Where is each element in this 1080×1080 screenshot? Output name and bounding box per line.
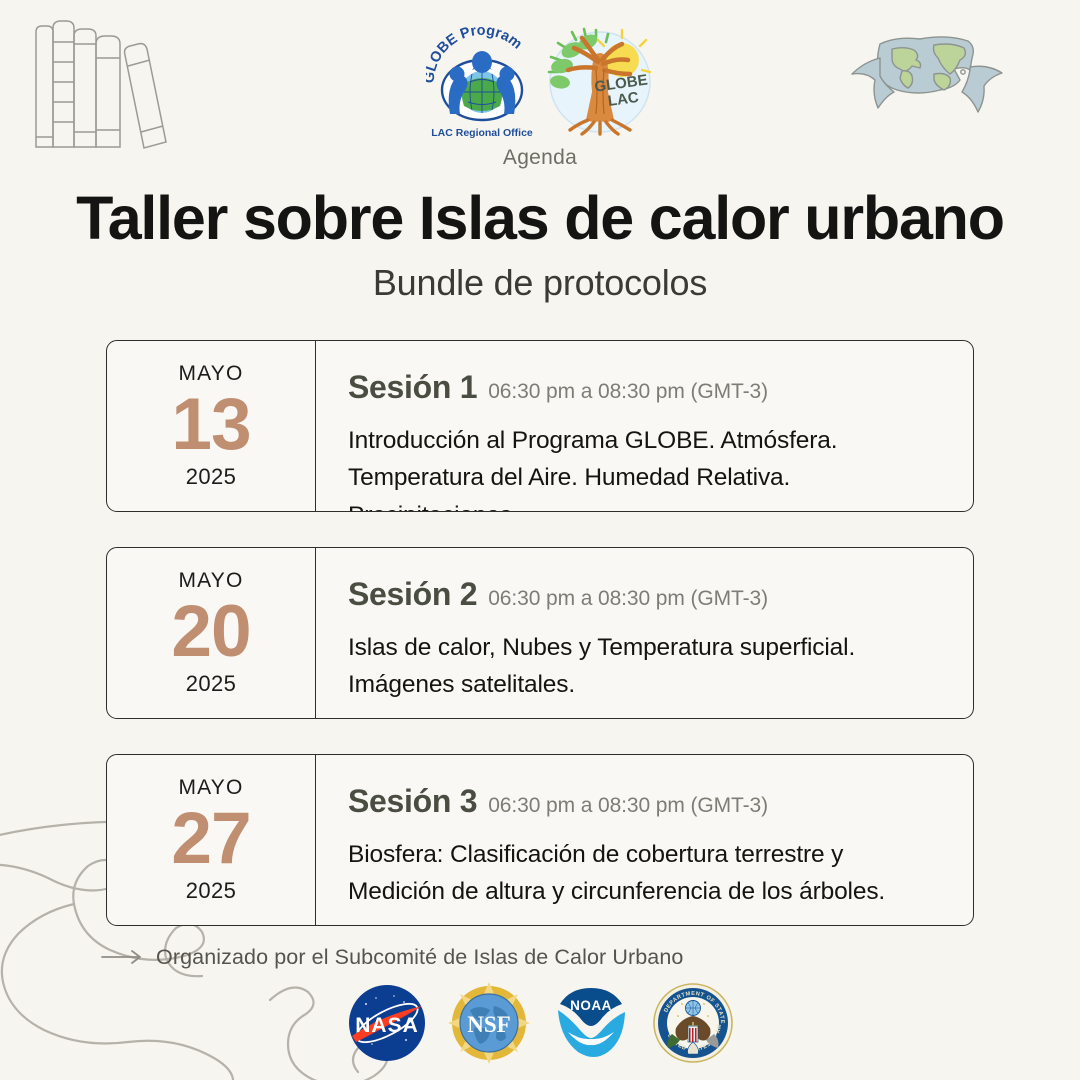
session-card: MAYO 27 2025 Sesión 3 06:30 pm a 08:30 p…: [106, 754, 974, 926]
agenda-label: Agenda: [0, 146, 1080, 170]
svg-text:NOAA: NOAA: [570, 998, 612, 1013]
session-description-line: Temperatura del Aire. Humedad Relativa. …: [348, 459, 951, 512]
session-date-block: MAYO 20 2025: [107, 548, 316, 718]
date-day: 27: [171, 802, 250, 876]
session-list: MAYO 13 2025 Sesión 1 06:30 pm a 08:30 p…: [106, 340, 974, 926]
svg-text:NSF: NSF: [467, 1012, 510, 1037]
page-title: Taller sobre Islas de calor urbano: [0, 186, 1080, 250]
page-subtitle: Bundle de protocolos: [0, 262, 1080, 304]
svg-text:LAC Regional Office: LAC Regional Office: [431, 127, 533, 139]
organizer-text: Organizado por el Subcomité de Islas de …: [156, 945, 683, 970]
globe-lac-tree-logo: GLOBE LAC: [546, 26, 654, 138]
date-month: MAYO: [178, 569, 243, 593]
date-year: 2025: [186, 464, 237, 490]
session-heading-row: Sesión 3 06:30 pm a 08:30 pm (GMT-3): [348, 783, 951, 820]
session-description-line: Introducción al Programa GLOBE. Atmósfer…: [348, 422, 951, 459]
session-name: Sesión 2: [348, 576, 477, 613]
date-month: MAYO: [178, 362, 243, 386]
session-description-line: Biosfera: Clasificación de cobertura ter…: [348, 836, 951, 873]
session-content: Sesión 2 06:30 pm a 08:30 pm (GMT-3) Isl…: [316, 548, 973, 718]
session-description-line: Medición de altura y circunferencia de l…: [348, 873, 951, 910]
sponsor-logo-row: NASA NSF: [0, 982, 1080, 1064]
session-card: MAYO 20 2025 Sesión 2 06:30 pm a 08:30 p…: [106, 547, 974, 719]
page-footer: Organizado por el Subcomité de Islas de …: [0, 940, 1080, 1080]
globe-program-lac-regional-office-logo: GLOBE Program LAC Regional Office: [426, 22, 538, 140]
organizer-row: Organizado por el Subcomité de Islas de …: [0, 940, 1080, 974]
arrow-right-icon: [100, 949, 146, 965]
session-name: Sesión 3: [348, 783, 477, 820]
us-department-of-state-seal: DEPARTMENT OF STATE UNITED STATES OF AME…: [652, 982, 734, 1064]
session-heading-row: Sesión 2 06:30 pm a 08:30 pm (GMT-3): [348, 576, 951, 613]
session-time: 06:30 pm a 08:30 pm (GMT-3): [488, 794, 768, 818]
date-year: 2025: [186, 878, 237, 904]
session-description-line: Islas de calor, Nubes y Temperatura supe…: [348, 629, 951, 666]
date-month: MAYO: [178, 776, 243, 800]
session-card: MAYO 13 2025 Sesión 1 06:30 pm a 08:30 p…: [106, 340, 974, 512]
nsf-logo: NSF: [448, 982, 530, 1064]
session-description-line: Imágenes satelitales.: [348, 666, 951, 703]
date-year: 2025: [186, 671, 237, 697]
date-day: 13: [171, 388, 250, 462]
session-date-block: MAYO 27 2025: [107, 755, 316, 925]
session-time: 06:30 pm a 08:30 pm (GMT-3): [488, 380, 768, 404]
session-date-block: MAYO 13 2025: [107, 341, 316, 511]
session-heading-row: Sesión 1 06:30 pm a 08:30 pm (GMT-3): [348, 369, 951, 406]
session-content: Sesión 3 06:30 pm a 08:30 pm (GMT-3) Bio…: [316, 755, 973, 925]
svg-text:NASA: NASA: [355, 1014, 419, 1037]
noaa-logo: NOAA: [550, 982, 632, 1064]
logo-row: GLOBE Program LAC Regional Office: [0, 22, 1080, 142]
page-header: GLOBE Program LAC Regional Office: [0, 0, 1080, 304]
session-time: 06:30 pm a 08:30 pm (GMT-3): [488, 587, 768, 611]
session-name: Sesión 1: [348, 369, 477, 406]
nasa-logo: NASA: [346, 982, 428, 1064]
date-day: 20: [171, 595, 250, 669]
session-content: Sesión 1 06:30 pm a 08:30 pm (GMT-3) Int…: [316, 341, 973, 511]
